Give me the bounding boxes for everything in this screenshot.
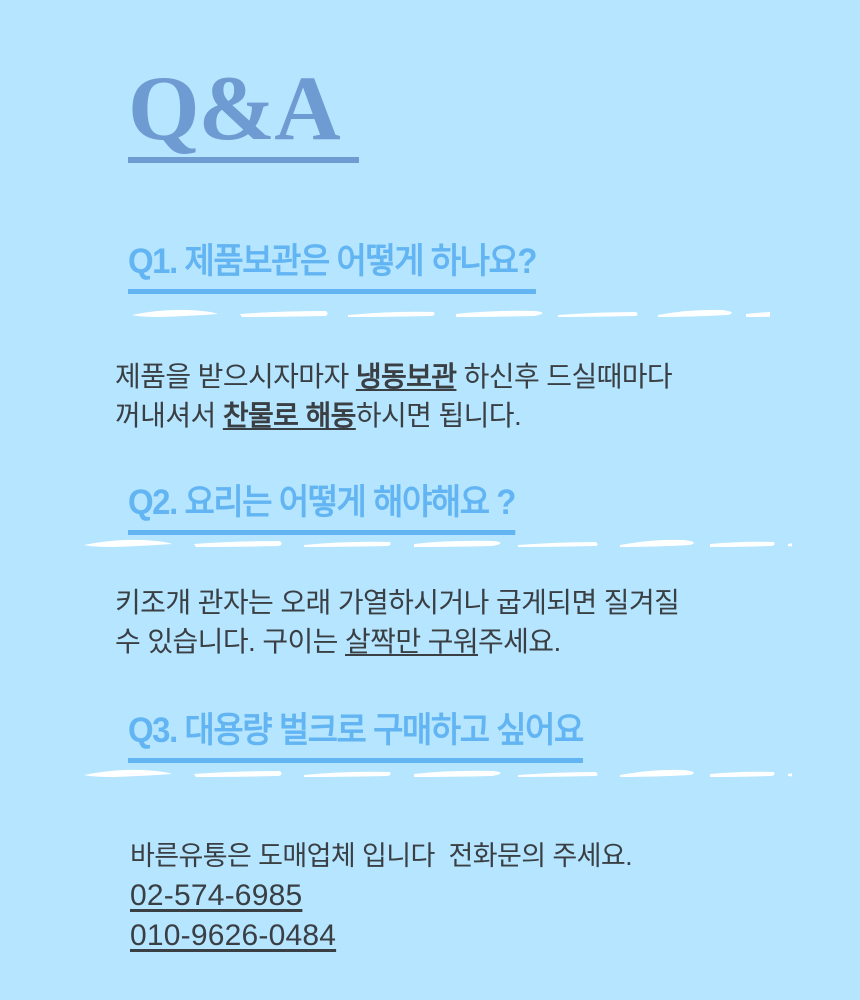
question-heading-3: Q3. 대용량 벌크로 구매하고 싶어요: [128, 712, 583, 763]
answer-2-emphasis-1: 살짝만 구워: [345, 626, 478, 657]
contact-lead-text: 바른유통은 도매업체 입니다 전화문의 주세요.: [130, 838, 632, 874]
phone-number-mobile[interactable]: 010-9626-0484: [130, 916, 336, 956]
answer-1-emphasis-1: 냉동보관: [356, 361, 457, 392]
answer-1-text-0: 제품을 받으시자마자: [115, 361, 356, 392]
answer-1-text-4: 하시면 됩니다.: [356, 400, 521, 431]
section-divider-1: [130, 306, 770, 322]
contact-block: 바른유통은 도매업체 입니다 전화문의 주세요. 02-574-6985 010…: [130, 838, 632, 956]
page-title: Q&A: [128, 62, 359, 154]
answer-body-2: 키조개 관자는 오래 가열하시거나 굽게되면 질겨질 수 있습니다. 구이는 살…: [115, 584, 679, 661]
answer-2-text-2: 주세요.: [478, 626, 561, 657]
question-heading-1: Q1. 제품보관은 어떻게 하나요?: [128, 243, 536, 294]
page-title-block: Q&A: [128, 62, 359, 163]
phone-number-landline[interactable]: 02-574-6985: [130, 876, 302, 916]
section-divider-3: [82, 766, 792, 782]
answer-1-emphasis-3: 찬물로 해동: [223, 400, 356, 431]
question-heading-2: Q2. 요리는 어떻게 해야해요 ?: [128, 484, 515, 535]
section-divider-2: [82, 536, 792, 552]
qa-page: Q&A Q1. 제품보관은 어떻게 하나요? 제품을 받으시자마자 냉동보관 하…: [0, 0, 860, 1000]
answer-body-1: 제품을 받으시자마자 냉동보관 하신후 드실때마다 꺼내셔서 찬물로 해동하시면…: [115, 358, 672, 435]
